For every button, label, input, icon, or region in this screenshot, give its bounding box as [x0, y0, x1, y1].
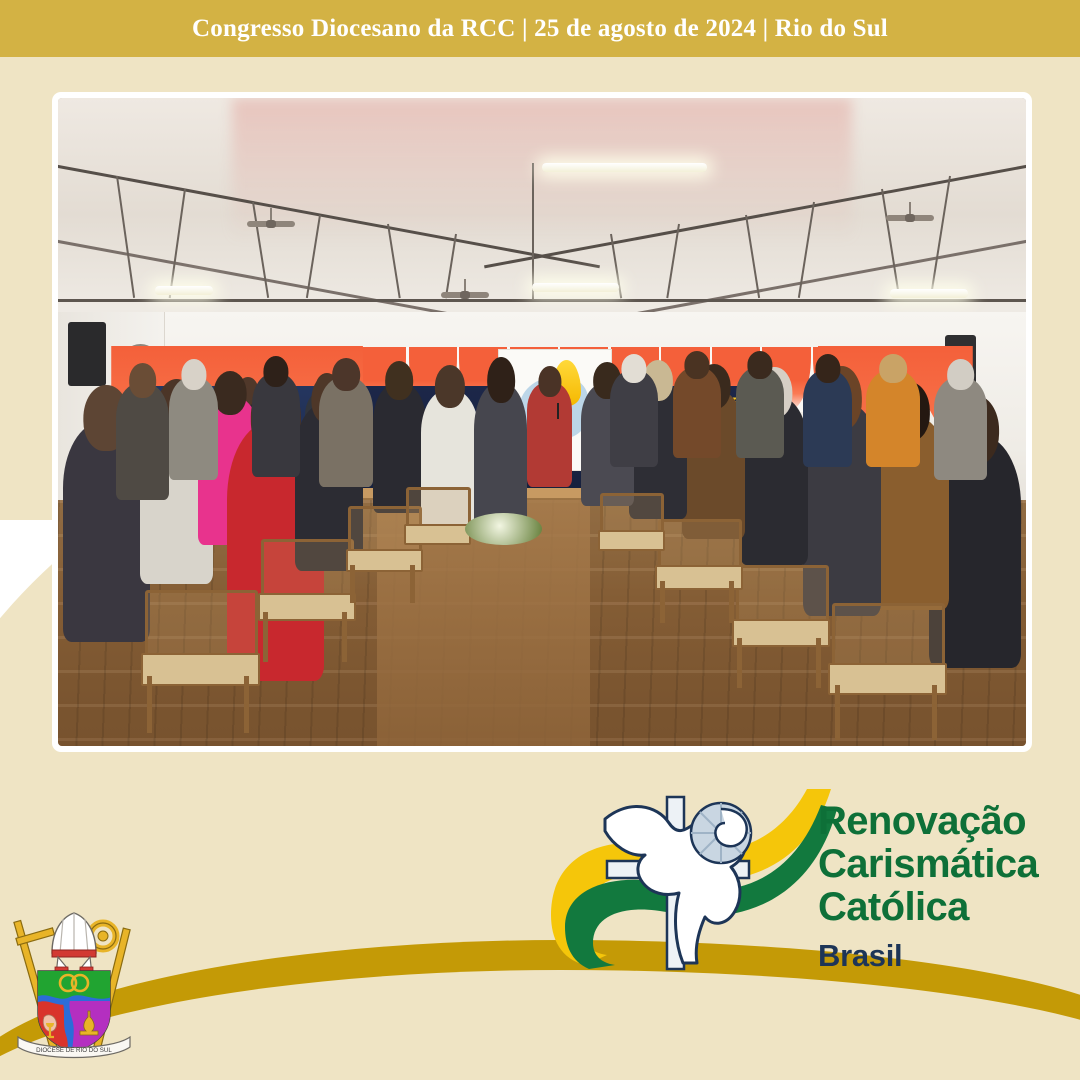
ceiling-light-4: [890, 289, 967, 298]
attendee: [866, 370, 919, 467]
rcc-logo-wordmark: Renovação Carismática Católica Brasil: [818, 800, 1078, 974]
chair: [658, 519, 735, 623]
header-bar: Congresso Diocesano da RCC | 25 de agost…: [0, 0, 1080, 57]
attendee-head: [947, 359, 975, 390]
chair-seat: [828, 663, 947, 694]
chair-leg: [835, 685, 840, 739]
chair-leg: [816, 638, 821, 687]
chair-leg: [729, 581, 734, 622]
chair: [600, 493, 658, 577]
chair-leg: [660, 581, 665, 622]
attendee: [252, 373, 300, 477]
attendee-head: [129, 363, 157, 398]
photo-frame: CONGRESSO DIOCESANO RIO DO SUL: [52, 92, 1032, 752]
chair-leg: [244, 676, 249, 733]
chair-leg: [932, 685, 937, 739]
chair-back: [736, 565, 829, 628]
attendee-head: [684, 351, 709, 378]
attendee: [934, 377, 987, 481]
chair: [145, 590, 251, 733]
crest-banner-text: DIOCESE DE RIO DO SUL: [36, 1047, 112, 1054]
chair: [736, 565, 823, 688]
attendee: [736, 367, 784, 458]
singer-leader: [527, 383, 572, 487]
chair-seat: [141, 653, 260, 686]
truss-web-7: [532, 163, 534, 299]
attendee: [116, 383, 169, 500]
chair-leg: [263, 612, 268, 661]
mitre-icon: [52, 913, 96, 975]
logo-line-catolica: Católica: [818, 886, 1078, 929]
attendee-head: [487, 357, 515, 404]
truss-bottom-chord: [58, 299, 1026, 302]
attendee-head: [332, 358, 360, 391]
diocese-crest: DIOCESE DE RIO DO SUL: [8, 905, 140, 1070]
chair: [406, 487, 464, 571]
attendee-head: [815, 354, 840, 383]
chair-leg: [342, 612, 347, 661]
page-title: Congresso Diocesano da RCC | 25 de agost…: [192, 15, 888, 43]
fan-blades: [247, 221, 295, 227]
logo-line-carismatica: Carismática: [818, 843, 1078, 886]
chair: [261, 539, 348, 662]
logo-line-brasil: Brasil: [818, 938, 1078, 974]
chair-back: [261, 539, 354, 602]
attendee: [169, 377, 217, 481]
pa-speaker-left: [68, 322, 107, 387]
chair: [832, 603, 938, 739]
logo-line-renovacao: Renovação: [818, 800, 1078, 843]
attendee: [673, 367, 721, 458]
attendee: [803, 370, 851, 467]
rcc-logo-symbol: [545, 775, 845, 975]
chair-leg: [147, 676, 152, 733]
chair-seat: [404, 524, 471, 545]
attendee-head: [385, 361, 413, 400]
chair-leg: [350, 565, 355, 604]
mic-held: [557, 403, 559, 419]
attendee-head: [621, 354, 646, 383]
attendee-head: [747, 351, 772, 378]
attendee: [319, 377, 372, 487]
singer-head: [538, 366, 561, 397]
fan-blades: [441, 292, 489, 298]
attendee-head: [213, 371, 246, 416]
attendee-head: [181, 359, 206, 390]
event-photo: CONGRESSO DIOCESANO RIO DO SUL: [58, 98, 1026, 746]
flower-arrangement-aisle: [465, 513, 542, 545]
attendee-head: [879, 354, 907, 383]
attendee-head: [263, 356, 288, 387]
fan-blades: [886, 215, 934, 221]
ceiling-light-2: [155, 286, 213, 295]
poster-canvas: Congresso Diocesano da RCC | 25 de agost…: [0, 0, 1080, 1080]
ceiling-light-1: [542, 163, 707, 172]
dove-cross-ribbon-icon: [545, 775, 845, 975]
ceiling-light-3: [532, 283, 619, 292]
chair-back: [832, 603, 944, 672]
attendee: [610, 370, 658, 467]
attendee-head: [435, 365, 465, 408]
chair-back: [145, 590, 257, 662]
chair-leg: [737, 638, 742, 687]
chair-seat: [598, 530, 665, 551]
coat-of-arms-icon: DIOCESE DE RIO DO SUL: [8, 905, 140, 1070]
